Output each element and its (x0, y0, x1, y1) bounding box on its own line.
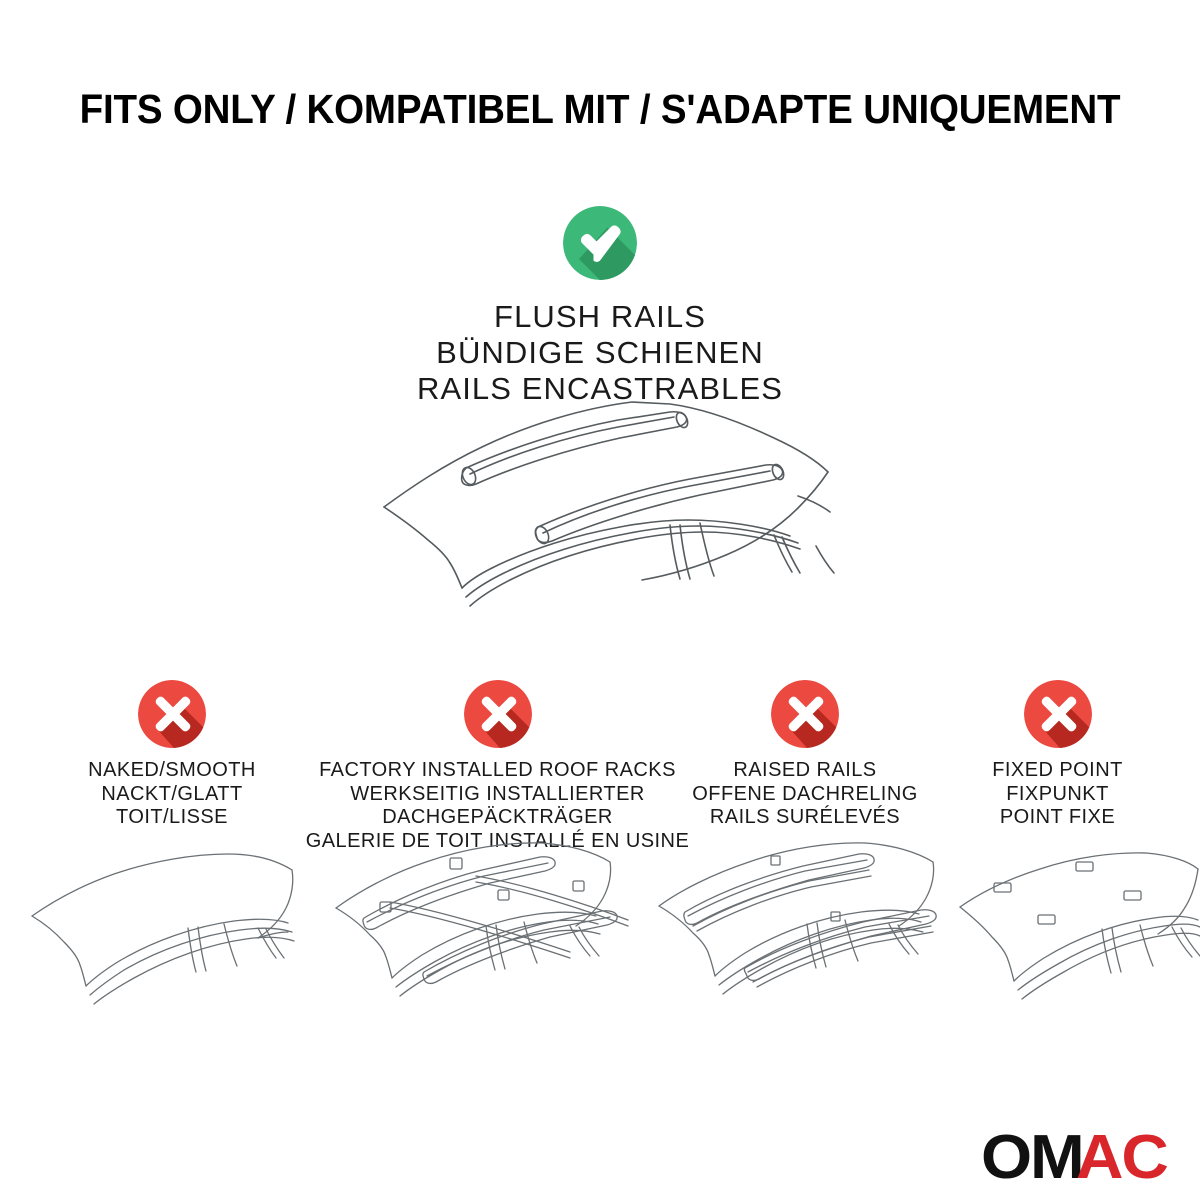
reject-label-de: NACKT/GLATT (40, 783, 304, 807)
page-title: FITS ONLY / KOMPATIBEL MIT / S'ADAPTE UN… (36, 86, 1164, 133)
x-circle-icon (464, 680, 532, 748)
approved-label-de: BÜNDIGE SCHIENEN (0, 335, 1200, 371)
reject-label-de-2: DACHGEPÄCKTRÄGER (305, 806, 690, 830)
car-roof-naked-smooth-illustration (18, 848, 318, 1038)
approved-label-en: FLUSH RAILS (0, 299, 1200, 335)
x-circle-icon (1024, 680, 1092, 748)
reject-label-de-1: WERKSEITIG INSTALLIERTER (305, 783, 690, 807)
car-roof-with-factory-racks-illustration (318, 830, 658, 1020)
reject-labels: NAKED/SMOOTH NACKT/GLATT TOIT/LISSE (40, 759, 304, 830)
approved-section: FLUSH RAILS BÜNDIGE SCHIENEN RAILS ENCAS… (0, 206, 1200, 407)
check-circle-icon (563, 206, 637, 280)
reject-item-fixed-point: FIXED POINT FIXPUNKT POINT FIXE (945, 680, 1170, 830)
reject-label-fr: POINT FIXE (945, 806, 1170, 830)
logo-text-red: AC (1076, 1122, 1167, 1193)
reject-item-raised-rails: RAISED RAILS OFFENE DACHRELING RAILS SUR… (665, 680, 945, 830)
reject-label-fr: TOIT/LISSE (40, 806, 304, 830)
logo-text-dark: OM (981, 1122, 1083, 1193)
rejected-section: NAKED/SMOOTH NACKT/GLATT TOIT/LISSE FACT… (0, 680, 1200, 790)
car-roof-with-raised-rails-illustration (645, 830, 965, 1020)
reject-labels: RAISED RAILS OFFENE DACHRELING RAILS SUR… (665, 759, 945, 830)
reject-label-en: NAKED/SMOOTH (40, 759, 304, 783)
reject-label-en: RAISED RAILS (665, 759, 945, 783)
approved-labels: FLUSH RAILS BÜNDIGE SCHIENEN RAILS ENCAS… (0, 299, 1200, 407)
car-roof-with-fixed-points-illustration (950, 845, 1200, 1035)
car-roof-with-flush-rails-illustration (370, 392, 840, 642)
x-circle-icon (138, 680, 206, 748)
reject-label-de: OFFENE DACHRELING (665, 783, 945, 807)
reject-labels: FIXED POINT FIXPUNKT POINT FIXE (945, 759, 1170, 830)
reject-label-en: FIXED POINT (945, 759, 1170, 783)
x-circle-icon (771, 680, 839, 748)
compatibility-infographic: FITS ONLY / KOMPATIBEL MIT / S'ADAPTE UN… (0, 0, 1200, 1200)
reject-item-factory-installed-roof-racks: FACTORY INSTALLED ROOF RACKS WERKSEITIG … (305, 680, 690, 853)
omac-logo: OM AC (981, 1122, 1162, 1178)
reject-item-naked-smooth: NAKED/SMOOTH NACKT/GLATT TOIT/LISSE (40, 680, 304, 830)
reject-label-en: FACTORY INSTALLED ROOF RACKS (305, 759, 690, 783)
reject-label-fr: RAILS SURÉLEVÉS (665, 806, 945, 830)
reject-label-de: FIXPUNKT (945, 783, 1170, 807)
